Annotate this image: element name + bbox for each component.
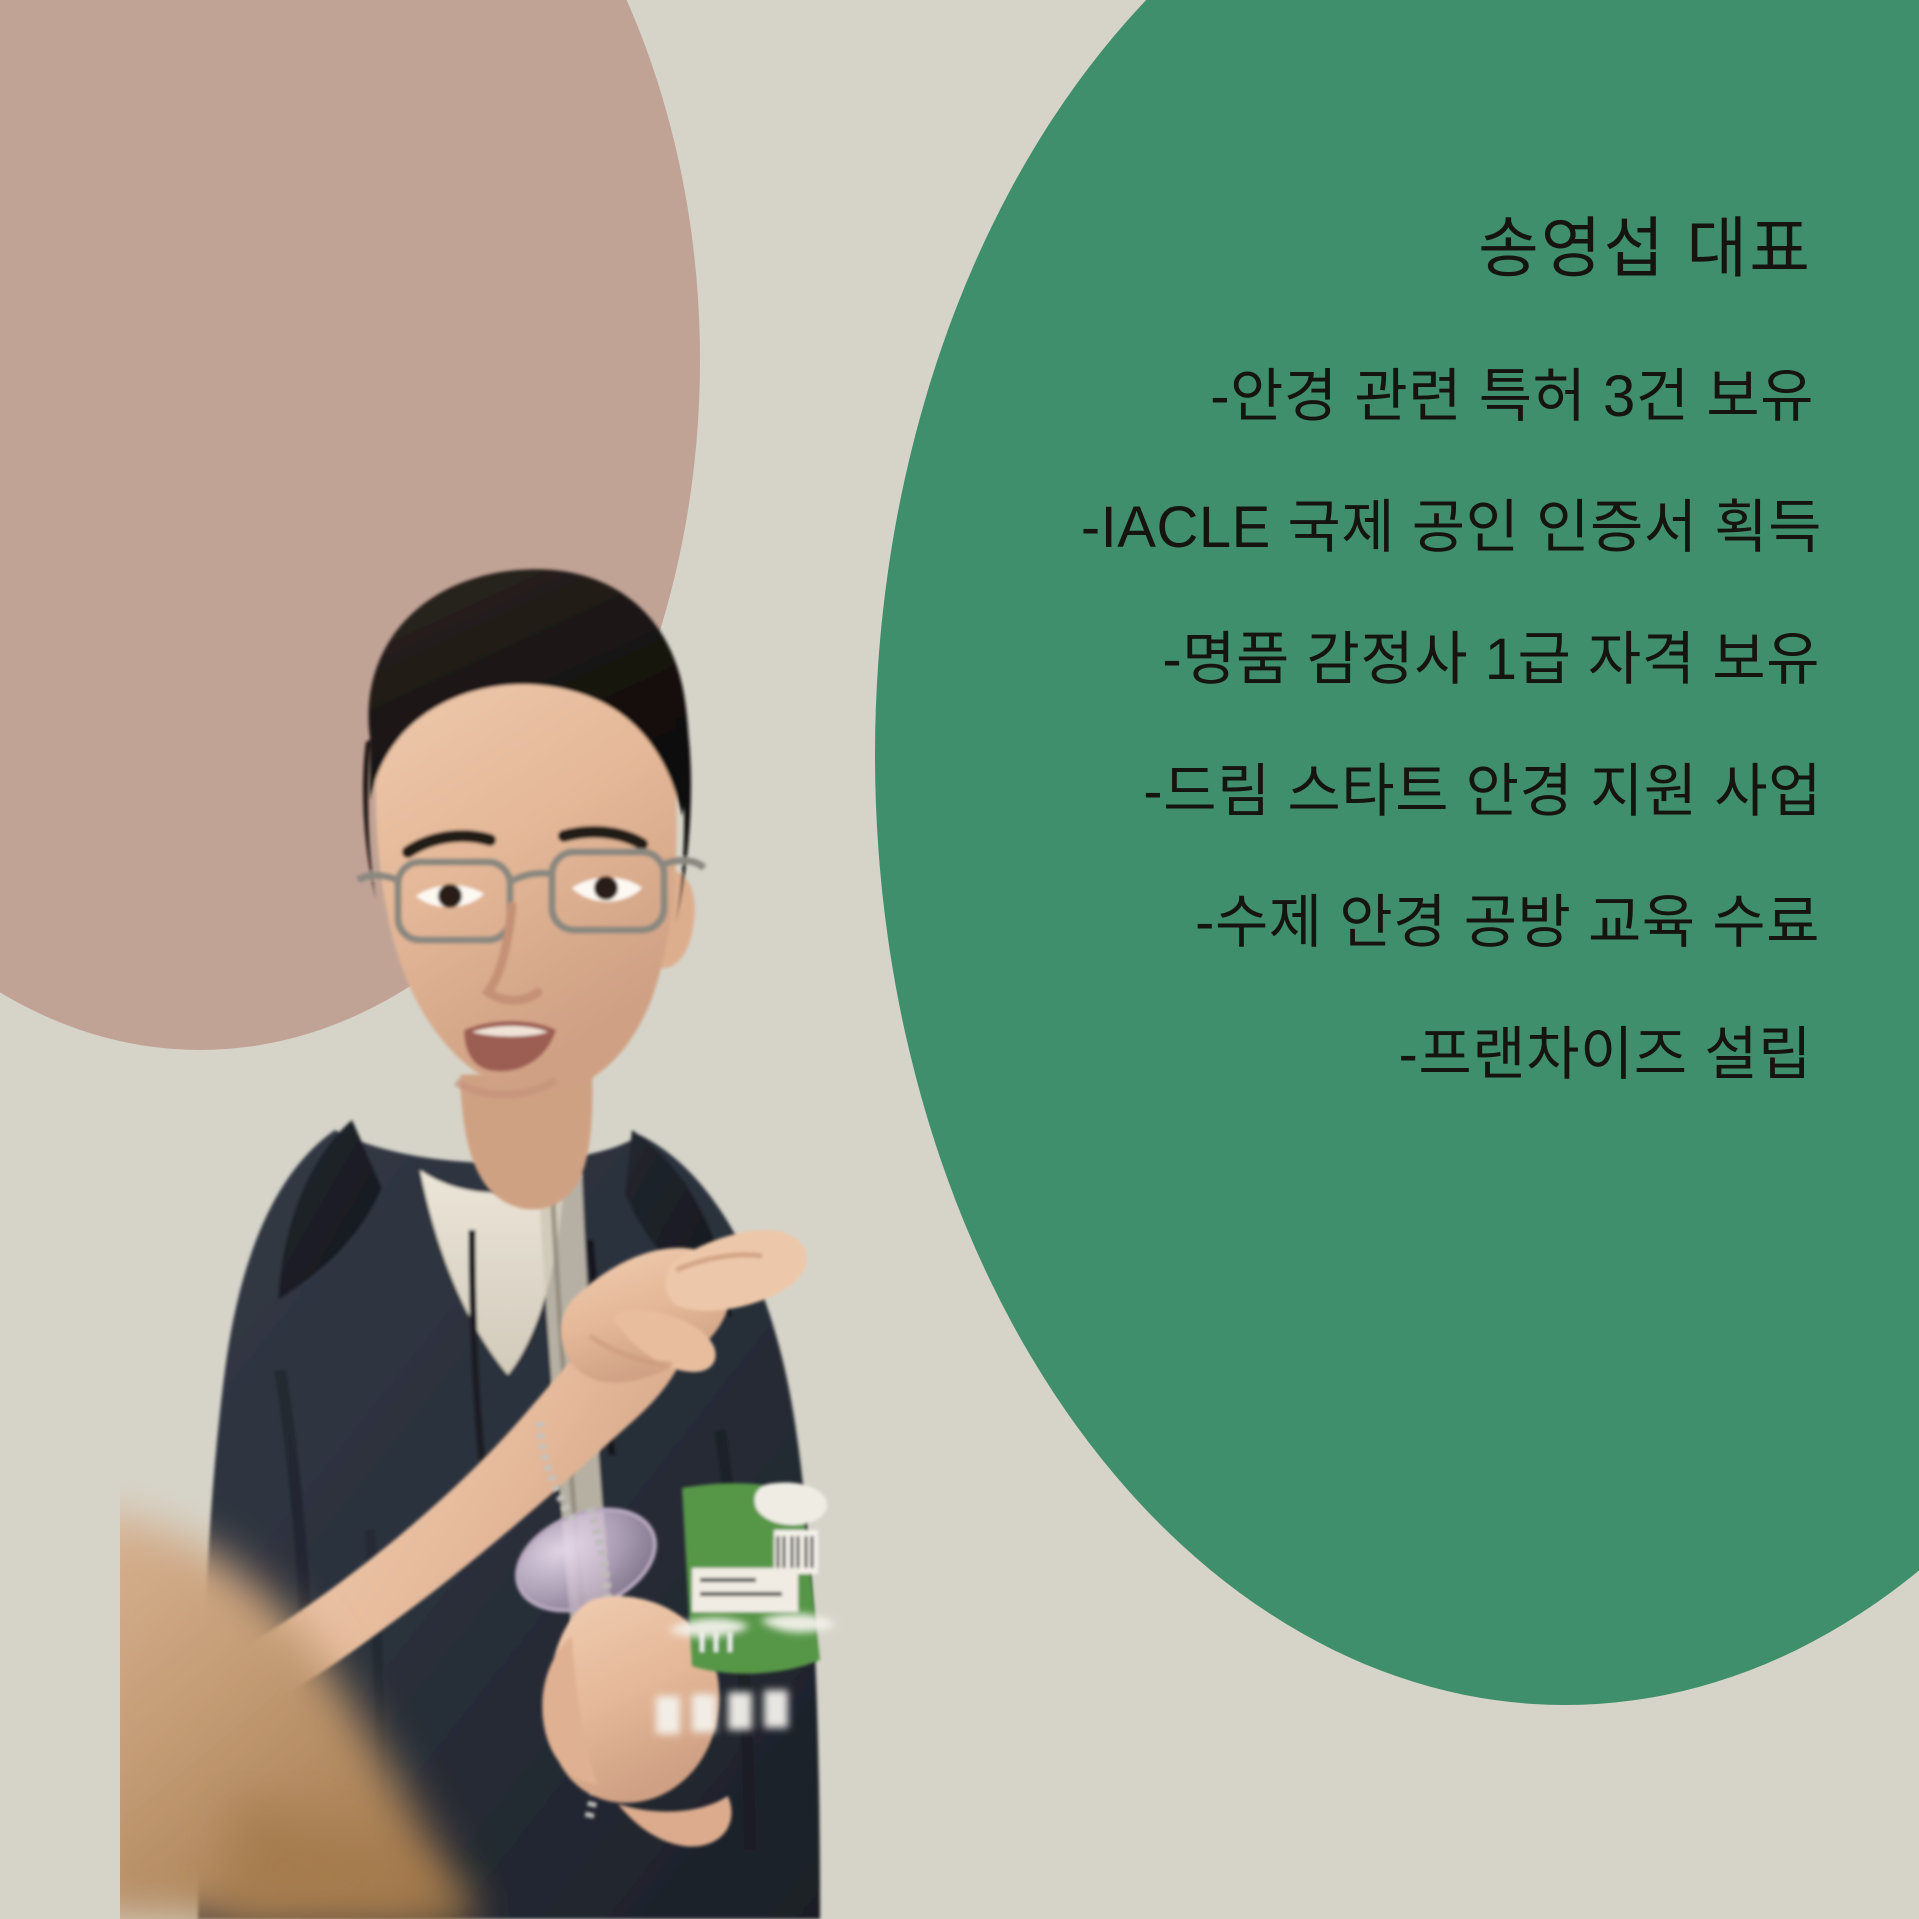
credential-item-iacle: -IACLE 국제 공인 인증서 획득 xyxy=(870,493,1870,563)
tag-label-panel xyxy=(692,1568,798,1612)
glasses-temple-left xyxy=(358,876,398,881)
credential-item-appraiser: -명품 감정사 1급 자격 보유 xyxy=(870,625,1870,695)
profile-photo xyxy=(120,470,920,1919)
pupil-right xyxy=(594,876,618,900)
profile-card-canvas: 송영섭 대표 -안경 관련 특허 3건 보유 -IACLE 국제 공인 인증서 … xyxy=(0,0,1919,1919)
credential-item-handmade-workshop: -수제 안경 공방 교육 수료 xyxy=(870,888,1870,958)
credentials-panel: 송영섭 대표 -안경 관련 특허 3건 보유 -IACLE 국제 공인 인증서 … xyxy=(870,210,1870,1089)
profile-photo-illustration xyxy=(120,470,920,1919)
page-title: 송영섭 대표 xyxy=(870,210,1870,288)
green-product-tag xyxy=(682,1483,827,1674)
pupil-left xyxy=(438,884,462,908)
head xyxy=(358,569,704,1094)
credential-item-dream-start: -드림 스타트 안경 지원 사업 xyxy=(870,757,1870,827)
credential-item-patents: -안경 관련 특허 3건 보유 xyxy=(870,362,1870,432)
credential-item-franchise: -프랜차이즈 설립 xyxy=(870,1020,1870,1090)
